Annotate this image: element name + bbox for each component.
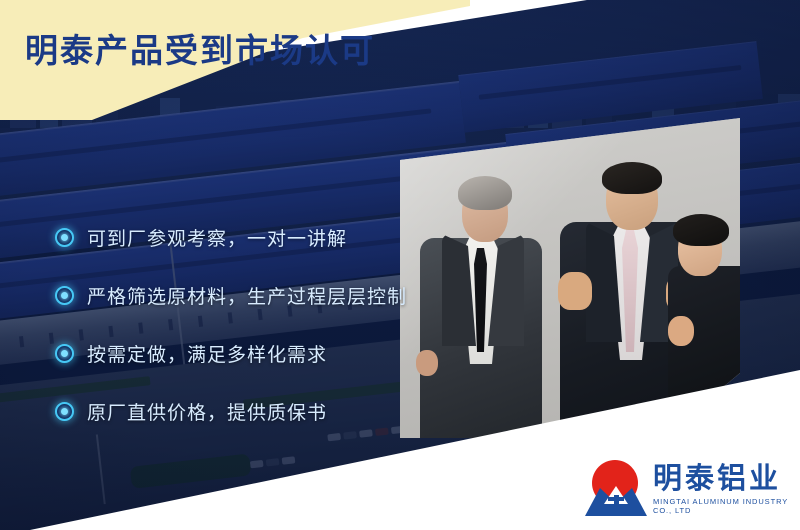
person-right-hand: [668, 316, 694, 346]
logo-text-block: 明泰铝业 MINGTAI ALUMINUM INDUSTRY CO., LTD: [653, 463, 790, 514]
person-center-hand-left: [558, 272, 592, 310]
list-item-label: 按需定做，满足多样化需求: [87, 340, 327, 367]
target-circle-icon: [55, 286, 74, 305]
target-circle-icon: [55, 344, 74, 363]
logo-chinese-name: 明泰铝业: [653, 463, 790, 493]
logo-english-name: MINGTAI ALUMINUM INDUSTRY CO., LTD: [653, 497, 790, 515]
list-item-label: 原厂直供价格，提供质保书: [87, 398, 327, 425]
list-item[interactable]: 可到厂参观考察，一对一讲解: [55, 208, 455, 266]
company-logo[interactable]: 明泰铝业 MINGTAI ALUMINUM INDUSTRY CO., LTD: [585, 458, 790, 520]
target-circle-icon: [55, 402, 74, 421]
feature-list: 可到厂参观考察，一对一讲解 严格筛选原材料，生产过程层层控制 按需定做，满足多样…: [55, 208, 455, 440]
promo-banner: 明泰产品受到市场认可: [0, 0, 800, 530]
target-circle-icon: [55, 228, 74, 247]
page-title: 明泰产品受到市场认可: [25, 24, 375, 72]
list-item-label: 严格筛选原材料，生产过程层层控制: [87, 282, 407, 309]
person-center-hair: [602, 162, 662, 194]
list-item[interactable]: 按需定做，满足多样化需求: [55, 324, 455, 382]
mingtai-mark-icon: [585, 460, 647, 518]
list-item-label: 可到厂参观考察，一对一讲解: [87, 224, 347, 251]
list-item[interactable]: 严格筛选原材料，生产过程层层控制: [55, 266, 455, 324]
person-right-hair: [673, 214, 729, 246]
mountain-bar: [608, 497, 624, 501]
list-item[interactable]: 原厂直供价格，提供质保书: [55, 382, 455, 440]
person-left-hair: [458, 176, 512, 210]
